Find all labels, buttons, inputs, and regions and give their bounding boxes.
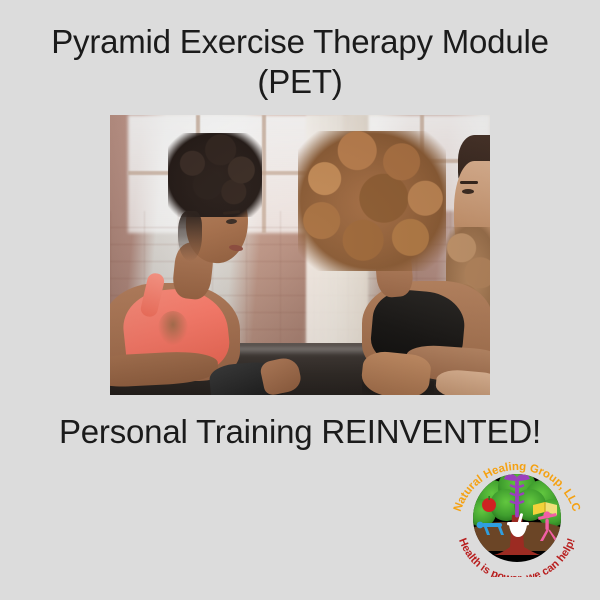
subject-left-torso-shading: [158, 311, 188, 345]
subject-center-hair: [298, 131, 446, 271]
subject-right-eyebrow: [460, 181, 478, 184]
hero-photo: [110, 115, 490, 395]
tagline: Personal Training REINVENTED!: [0, 412, 600, 452]
page-title-line-1: Pyramid Exercise Therapy Module: [0, 22, 600, 62]
subject-left-hair: [168, 133, 262, 217]
subject-right-eye: [462, 189, 474, 194]
page-title: Pyramid Exercise Therapy Module (PET): [0, 22, 600, 102]
page-title-line-2: (PET): [0, 62, 600, 102]
promotional-poster: Pyramid Exercise Therapy Module (PET): [0, 0, 600, 600]
subject-left-hair-side: [178, 211, 202, 261]
subject-center-clasped-hands: [360, 350, 432, 395]
company-logo: Natural Healing Group, LLC Health is pow…: [448, 455, 586, 577]
subject-right-hand: [435, 368, 490, 395]
